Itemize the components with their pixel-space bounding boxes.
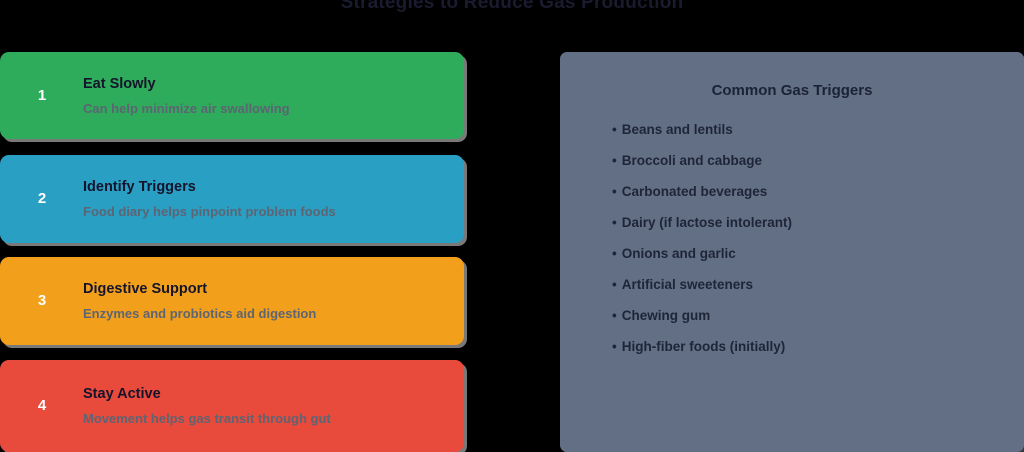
list-item-label: High-fiber foods (initially)	[622, 339, 786, 354]
step-description: Movement helps gas transit through gut	[83, 410, 448, 428]
step-card-2[interactable]: 2 Identify Triggers Food diary helps pin…	[0, 155, 464, 243]
triggers-list: •Beans and lentils •Broccoli and cabbage…	[612, 121, 1004, 369]
list-item: •Broccoli and cabbage	[612, 152, 1004, 183]
list-item-label: Beans and lentils	[622, 122, 733, 137]
bullet-icon: •	[612, 245, 617, 262]
bullet-icon: •	[612, 338, 617, 355]
step-text-block: Eat Slowly Can help minimize air swallow…	[83, 74, 448, 118]
list-item: •Artificial sweeteners	[612, 276, 1004, 307]
bullet-icon: •	[612, 121, 617, 138]
step-text-block: Stay Active Movement helps gas transit t…	[83, 384, 448, 428]
step-title: Stay Active	[83, 384, 448, 404]
step-card-1[interactable]: 1 Eat Slowly Can help minimize air swall…	[0, 52, 464, 139]
step-card-3[interactable]: 3 Digestive Support Enzymes and probioti…	[0, 257, 464, 345]
step-title: Digestive Support	[83, 279, 448, 299]
list-item: •High-fiber foods (initially)	[612, 338, 1004, 369]
step-text-block: Identify Triggers Food diary helps pinpo…	[83, 177, 448, 221]
list-item-label: Onions and garlic	[622, 246, 736, 261]
bullet-icon: •	[612, 152, 617, 169]
step-card-4[interactable]: 4 Stay Active Movement helps gas transit…	[0, 360, 464, 452]
list-item: •Beans and lentils	[612, 121, 1004, 152]
list-item-label: Broccoli and cabbage	[622, 153, 762, 168]
list-item-label: Carbonated beverages	[622, 184, 768, 199]
step-number-badge: 1	[26, 87, 58, 105]
bullet-icon: •	[612, 276, 617, 293]
bullet-icon: •	[612, 214, 617, 231]
step-description: Can help minimize air swallowing	[83, 100, 448, 118]
step-text-block: Digestive Support Enzymes and probiotics…	[83, 279, 448, 323]
step-title: Eat Slowly	[83, 74, 448, 94]
bullet-icon: •	[612, 183, 617, 200]
steps-column: 1 Eat Slowly Can help minimize air swall…	[0, 52, 466, 452]
step-title: Identify Triggers	[83, 177, 448, 197]
step-number-badge: 4	[26, 397, 58, 415]
step-description: Enzymes and probiotics aid digestion	[83, 305, 448, 323]
list-item-label: Artificial sweeteners	[622, 277, 753, 292]
list-item-label: Chewing gum	[622, 308, 711, 323]
step-description: Food diary helps pinpoint problem foods	[83, 203, 448, 221]
step-number-badge: 2	[26, 190, 58, 208]
bullet-icon: •	[612, 307, 617, 324]
page-title: Strategies to Reduce Gas Production	[0, 0, 1024, 15]
triggers-panel: Common Gas Triggers •Beans and lentils •…	[560, 52, 1024, 452]
list-item-label: Dairy (if lactose intolerant)	[622, 215, 792, 230]
list-item: •Onions and garlic	[612, 245, 1004, 276]
list-item: •Dairy (if lactose intolerant)	[612, 214, 1004, 245]
list-item: •Chewing gum	[612, 307, 1004, 338]
step-number-badge: 3	[26, 292, 58, 310]
list-item: •Carbonated beverages	[612, 183, 1004, 214]
triggers-heading: Common Gas Triggers	[560, 81, 1024, 101]
